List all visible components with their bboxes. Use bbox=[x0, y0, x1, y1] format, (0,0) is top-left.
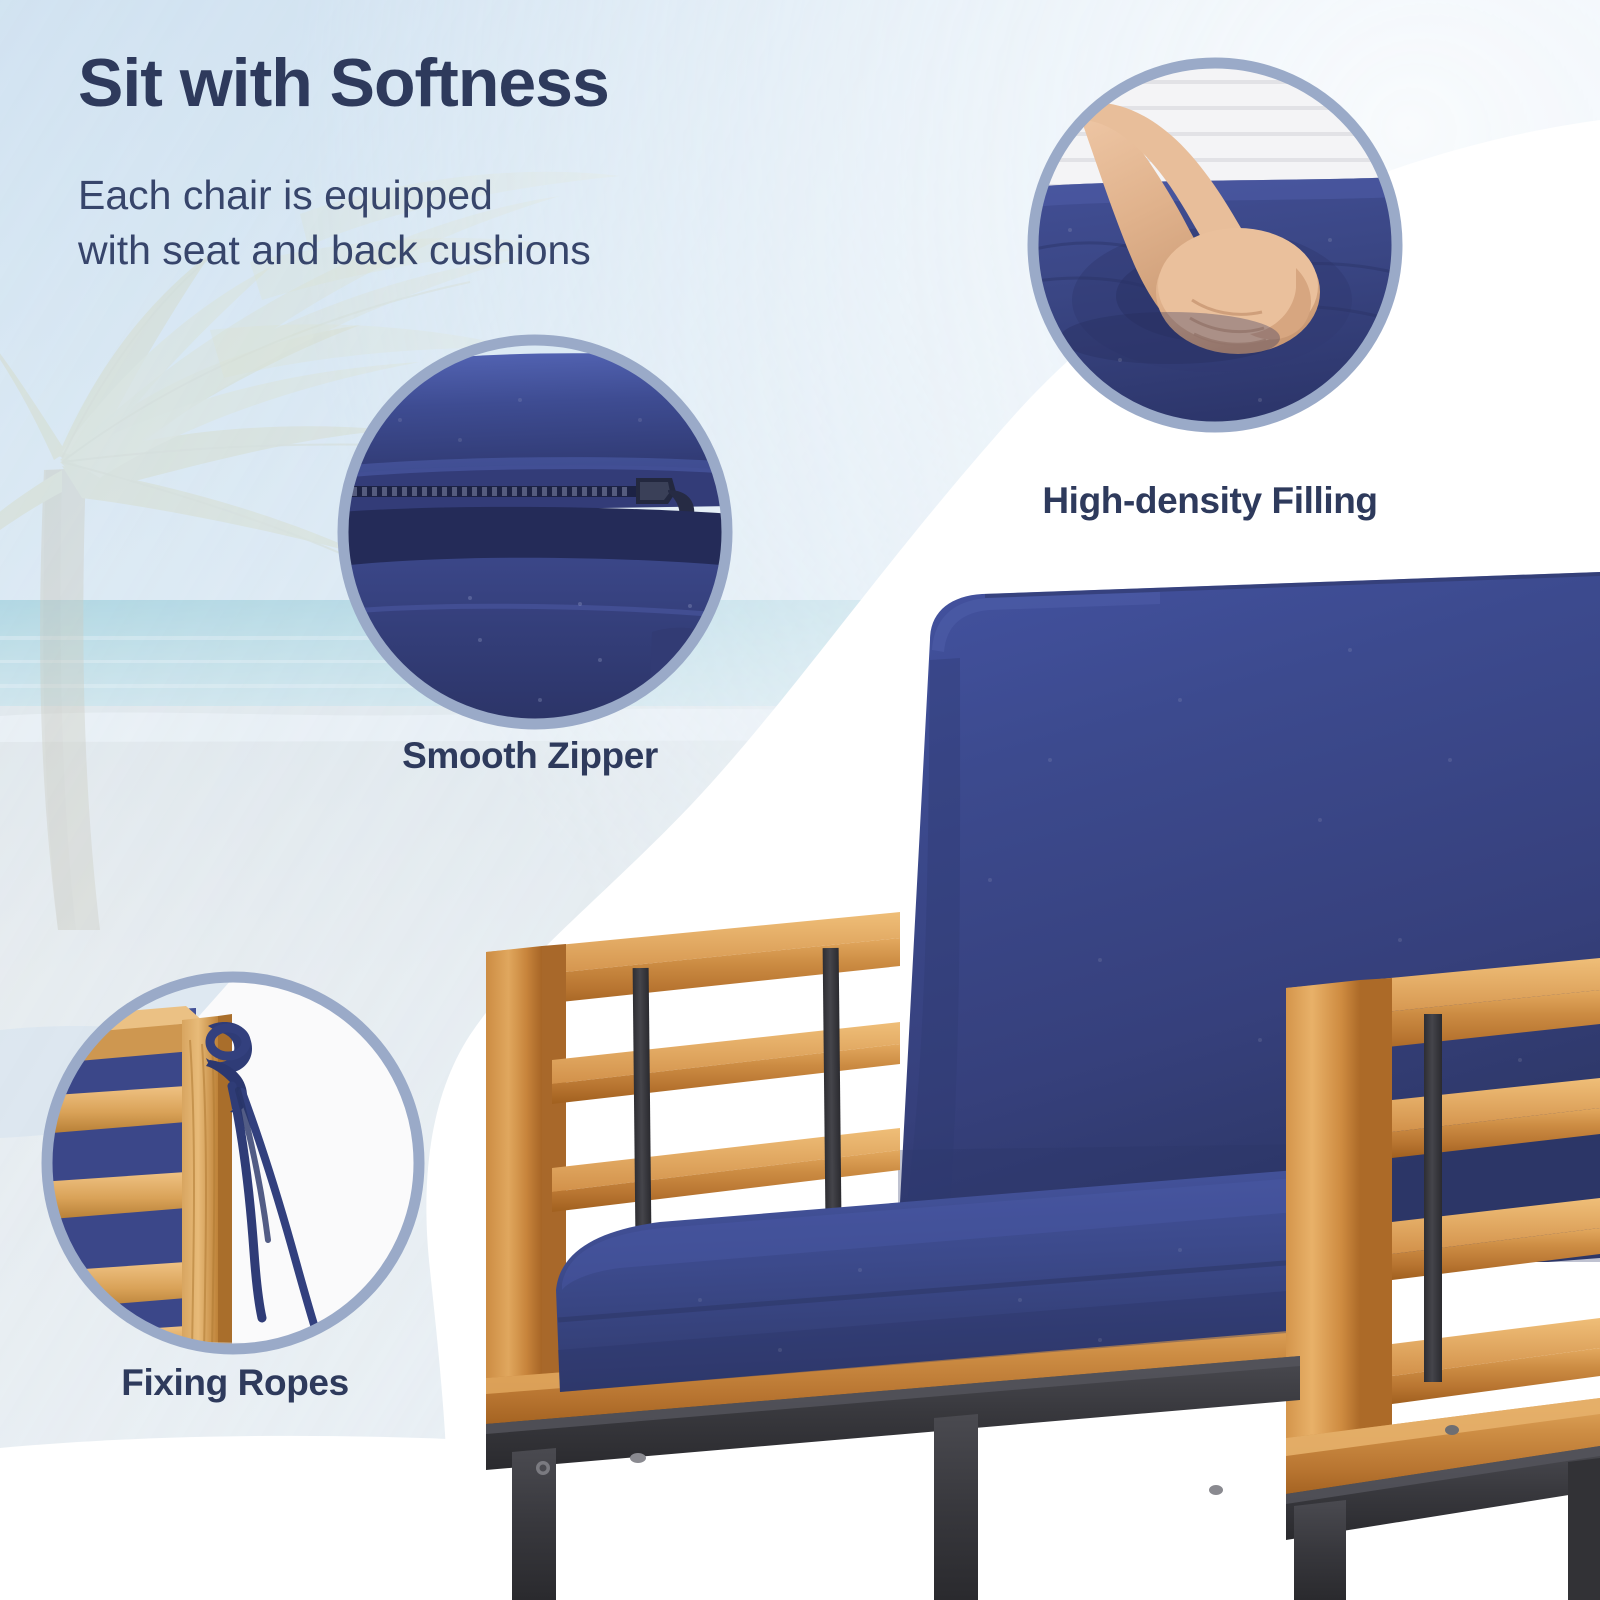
product-feature-graphic: Sit with Softness Each chair is equipped… bbox=[0, 0, 1600, 1600]
page-title: Sit with Softness bbox=[78, 48, 609, 119]
callout-label-high-density-filling: High-density Filling bbox=[1042, 480, 1377, 522]
callout-label-fixing-ropes: Fixing Ropes bbox=[121, 1362, 349, 1404]
page-subtitle: Each chair is equipped with seat and bac… bbox=[78, 168, 591, 279]
callout-label-smooth-zipper: Smooth Zipper bbox=[402, 735, 658, 777]
